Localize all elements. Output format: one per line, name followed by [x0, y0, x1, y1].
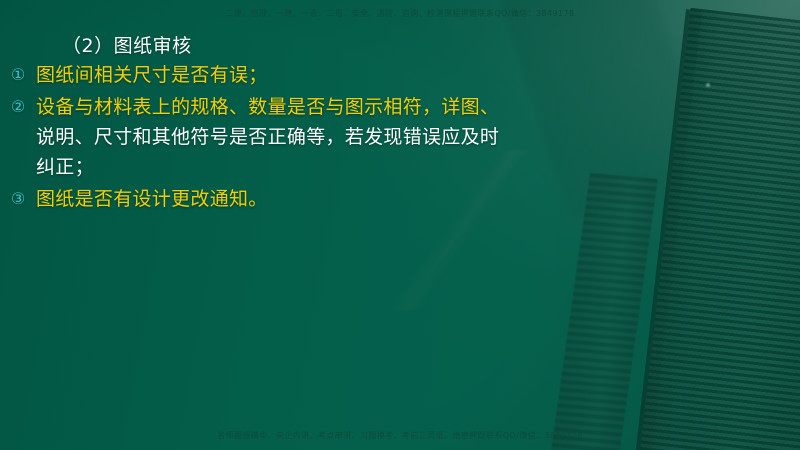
list-item-line: 设备与材料表上的规格、数量是否与图示相符，详图、: [36, 92, 620, 122]
list-item: ②设备与材料表上的规格、数量是否与图示相符，详图、说明、尺寸和其他符号是否正确等…: [0, 92, 620, 182]
list-item: ①图纸间相关尺寸是否有误；: [0, 60, 620, 90]
list-item-line: 说明、尺寸和其他符号是否正确等，若发现错误应及时: [36, 122, 620, 152]
list-item-line: 纠正；: [36, 152, 620, 182]
top-watermark-banner: 二建、监理、一建、一造、二造、安全、消防、咨询、检测课程押题联系QQ/微信：38…: [0, 8, 800, 19]
bottom-watermark-banner: 名师面授精华、央企内讲、考点串讲、习题模考、考前三页纸、绝密押题联系QQ/微信：…: [0, 430, 800, 441]
list-item-marker: ②: [0, 92, 36, 122]
list-item-marker: ③: [0, 184, 36, 214]
slide-heading: （2）图纸审核: [62, 31, 192, 58]
list-item-text: 图纸是否有设计更改通知。: [36, 184, 620, 214]
list-item-line: 图纸间相关尺寸是否有误；: [36, 60, 620, 90]
numbered-list: ①图纸间相关尺寸是否有误；②设备与材料表上的规格、数量是否与图示相符，详图、说明…: [0, 60, 620, 216]
list-item: ③图纸是否有设计更改通知。: [0, 184, 620, 214]
list-item-marker: ①: [0, 60, 36, 90]
list-item-line: 图纸是否有设计更改通知。: [36, 184, 620, 214]
list-item-text: 图纸间相关尺寸是否有误；: [36, 60, 620, 90]
list-item-text: 设备与材料表上的规格、数量是否与图示相符，详图、说明、尺寸和其他符号是否正确等，…: [36, 92, 620, 182]
presentation-slide: 二建、监理、一建、一造、二造、安全、消防、咨询、检测课程押题联系QQ/微信：38…: [0, 0, 800, 450]
